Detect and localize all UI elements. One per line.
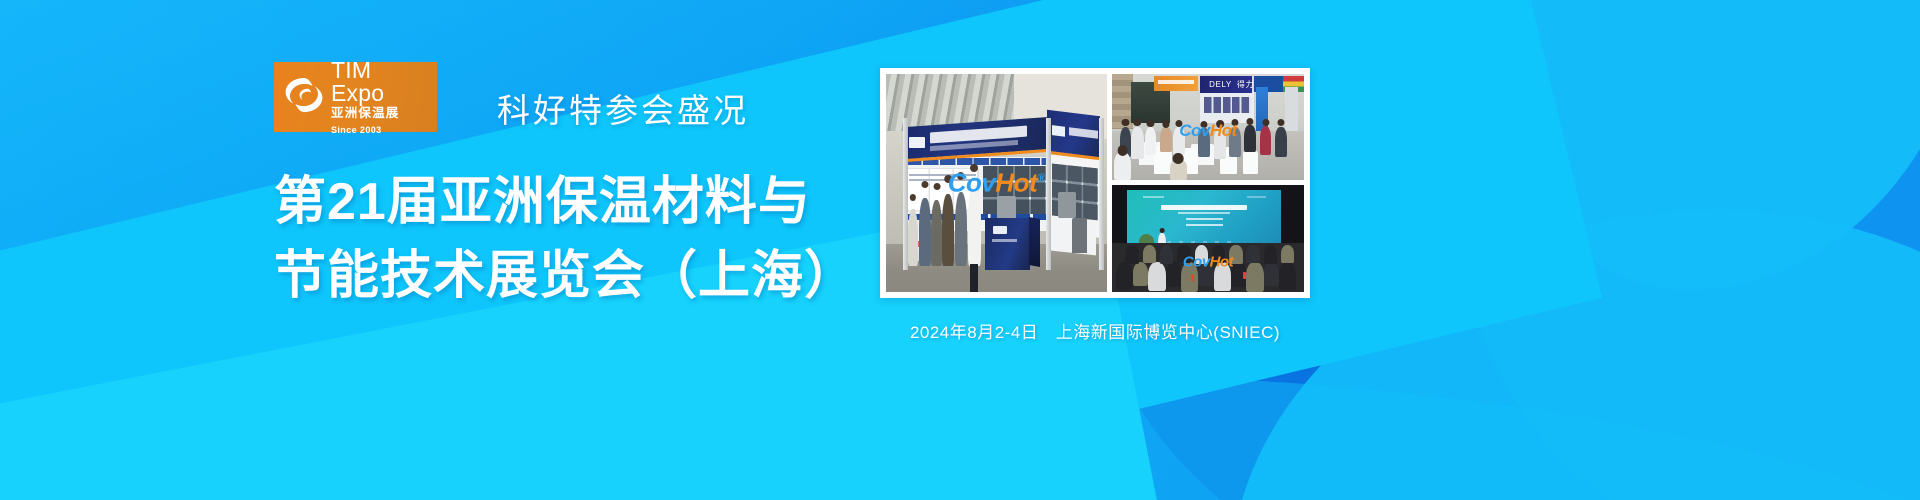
- audience-head: [1133, 262, 1148, 286]
- collage-right-column: DELY得力: [1112, 74, 1304, 292]
- visitor: [931, 200, 942, 265]
- booth-counter-side: [1029, 217, 1040, 267]
- audience-head: [1195, 245, 1208, 264]
- page-title: 第21届亚洲保温材料与 节能技术展览会（上海）: [274, 166, 974, 314]
- attendee: [1260, 126, 1272, 155]
- booth-header-side-logo: [1052, 125, 1065, 136]
- logo-title: TIM Expo: [331, 59, 429, 105]
- booth-pole-left: [903, 118, 908, 271]
- audience-head: [1212, 245, 1225, 263]
- attendee: [1244, 125, 1256, 153]
- attendee-badge: [1243, 272, 1246, 279]
- attendee: [1131, 127, 1143, 159]
- audience-head: [1198, 261, 1213, 286]
- staff-member: [968, 185, 981, 266]
- audience-head: [1160, 245, 1173, 264]
- logo-and-eyebrow-row: TIM Expo 亚洲保温展 Since 2003 科好特参会盛况: [274, 62, 974, 132]
- photo-collage: CovHot® DELY得力: [880, 68, 1310, 298]
- audience-head: [1166, 261, 1181, 287]
- visitor: [955, 192, 967, 266]
- eyebrow-text: 科好特参会盛况: [497, 84, 749, 132]
- screen-corner-logo-left: [1143, 196, 1165, 199]
- attendee: [1145, 127, 1157, 155]
- audience-head: [1181, 262, 1198, 292]
- audience-head: [1143, 245, 1156, 263]
- attendee: [1214, 128, 1226, 159]
- banner-text-column: TIM Expo 亚洲保温展 Since 2003 科好特参会盛况 第21届亚洲…: [274, 62, 974, 314]
- headline-line-1: 第21届亚洲保温材料与: [274, 173, 811, 231]
- event-info-line: 2024年8月2-4日 上海新国际博览中心(SNIEC): [880, 318, 1310, 343]
- attendee: [1160, 127, 1172, 152]
- screen-body-text: [1186, 218, 1223, 229]
- headline-line-2: 节能技术展览会（上海）: [274, 240, 974, 314]
- forum-presentation-photo[interactable]: CovHot: [1112, 185, 1304, 292]
- audience-head: [1177, 245, 1190, 263]
- audience-head: [1264, 245, 1277, 264]
- product-sample-b: [1058, 192, 1076, 218]
- audience-head: [1279, 262, 1296, 290]
- audience-head: [1264, 262, 1279, 286]
- logo-subtitle-cn: 亚洲保温展: [331, 107, 429, 120]
- attendee: [1173, 127, 1185, 155]
- booth-header-logo: [909, 137, 924, 148]
- far-booth: [1200, 91, 1254, 123]
- booth-reception-counter: [985, 218, 1029, 270]
- exhibition-booth-photo[interactable]: CovHot®: [886, 74, 1107, 292]
- booth-chair: [1072, 218, 1087, 253]
- overhead-banner-orange: [1154, 76, 1198, 91]
- attendee: [1275, 127, 1287, 157]
- audience-head: [1125, 245, 1138, 264]
- exhibition-hall-crowd-photo[interactable]: DELY得力: [1112, 74, 1304, 180]
- visitor: [908, 209, 918, 266]
- audience-head: [1116, 262, 1133, 290]
- booth-pole-center: [1046, 118, 1051, 271]
- audience-head: [1214, 262, 1231, 291]
- dely-sign: DELY得力: [1204, 79, 1254, 90]
- dely-sign-text: DELY: [1209, 80, 1232, 89]
- tim-expo-logo[interactable]: TIM Expo 亚洲保温展 Since 2003: [274, 62, 437, 132]
- audience-head: [1229, 245, 1242, 264]
- attendee-badge: [1191, 274, 1194, 281]
- screen-title-bar: [1161, 205, 1247, 210]
- attendee: [1229, 127, 1241, 157]
- tim-expo-swirl-mark: [283, 74, 325, 116]
- logo-text-block: TIM Expo 亚洲保温展 Since 2003: [331, 59, 429, 135]
- logo-since-text: Since 2003: [331, 126, 429, 135]
- attendee: [1170, 159, 1187, 180]
- attendee: [1114, 152, 1131, 180]
- screen-subtitle-bar: [1178, 212, 1230, 214]
- attendee: [1198, 128, 1210, 157]
- dely-sign-cn: 得力: [1237, 80, 1254, 89]
- visitor: [942, 194, 954, 266]
- visitor: [919, 198, 930, 266]
- screen-corner-logo-right: [1247, 196, 1265, 199]
- audience-head: [1246, 245, 1259, 263]
- audience-head: [1148, 262, 1165, 291]
- audience-head: [1281, 245, 1294, 263]
- audience-head: [1246, 262, 1263, 292]
- booth-pole-right: [1099, 118, 1104, 271]
- white-chair: [1243, 150, 1258, 173]
- expo-banner: TIM Expo 亚洲保温展 Since 2003 科好特参会盛况 第21届亚洲…: [0, 0, 1920, 500]
